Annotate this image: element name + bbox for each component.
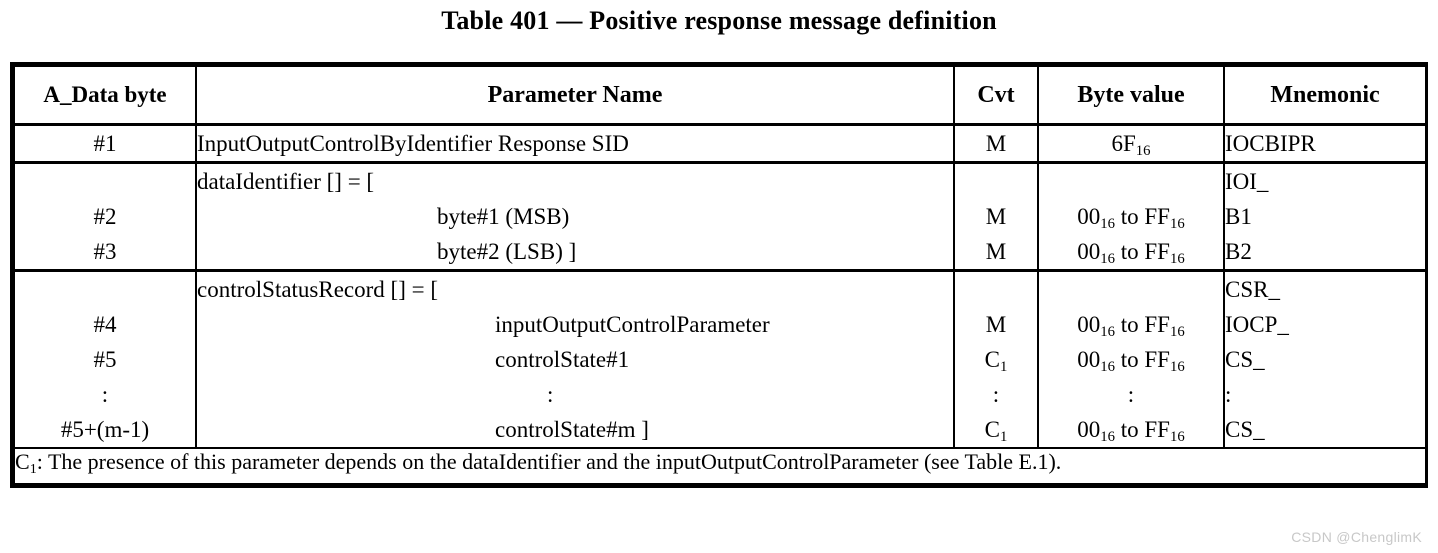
mnemonic-line: IOCP_ bbox=[1225, 307, 1425, 342]
range-start: 00 bbox=[1077, 417, 1100, 442]
cell-byte-value: 6F16 bbox=[1038, 125, 1224, 163]
table-header-row: A_Data byte Parameter Name Cvt Byte valu… bbox=[14, 66, 1426, 125]
watermark: CSDN @ChenglimK bbox=[1291, 529, 1422, 545]
cvt-subscript: 1 bbox=[1000, 429, 1007, 445]
range-start-subscript: 16 bbox=[1100, 251, 1115, 267]
byte-line: . bbox=[15, 164, 195, 199]
column-header-parameter-name: Parameter Name bbox=[196, 66, 954, 125]
byte-line: : bbox=[15, 377, 195, 412]
range-start-subscript: 16 bbox=[1100, 359, 1115, 375]
byte-value-line: 0016 to FF16 bbox=[1039, 412, 1223, 447]
byte-line: #5+(m-1) bbox=[15, 412, 195, 447]
range-start: 00 bbox=[1077, 239, 1100, 264]
cvt-line: M bbox=[955, 234, 1037, 269]
range-start: 00 bbox=[1077, 312, 1100, 337]
cell-parameter-name: dataIdentifier [] = [ byte#1 (MSB) byte#… bbox=[196, 163, 954, 271]
param-line: inputOutputControlParameter bbox=[197, 307, 953, 342]
byte-line: #4 bbox=[15, 307, 195, 342]
param-line: controlState#1 bbox=[197, 342, 953, 377]
cvt-line: M bbox=[955, 199, 1037, 234]
mnemonic-line: CSR_ bbox=[1225, 272, 1425, 307]
range-separator: to FF bbox=[1115, 417, 1170, 442]
range-end-subscript: 16 bbox=[1170, 216, 1185, 232]
param-line: byte#2 (LSB) ] bbox=[197, 234, 953, 269]
cell-mnemonic: IOI_ B1 B2 bbox=[1224, 163, 1426, 271]
param-line: : bbox=[197, 377, 953, 412]
definition-table-container: A_Data byte Parameter Name Cvt Byte valu… bbox=[10, 62, 1428, 488]
range-separator: to FF bbox=[1115, 204, 1170, 229]
byte-value-line: . bbox=[1039, 164, 1223, 199]
cell-adata-byte: . #4 #5 : #5+(m-1) bbox=[14, 271, 196, 449]
cvt-line: C1 bbox=[955, 412, 1037, 447]
byte-value-line: : bbox=[1039, 377, 1223, 412]
column-header-mnemonic: Mnemonic bbox=[1224, 66, 1426, 125]
range-end-subscript: 16 bbox=[1170, 251, 1185, 267]
cell-mnemonic: CSR_ IOCP_ CS_ : CS_ bbox=[1224, 271, 1426, 449]
byte-value-line: 0016 to FF16 bbox=[1039, 342, 1223, 377]
footnote-label-base: C bbox=[15, 449, 30, 474]
byte-value-line: 6F16 bbox=[1039, 126, 1223, 161]
column-header-byte-value: Byte value bbox=[1038, 66, 1224, 125]
byte-value-line: 0016 to FF16 bbox=[1039, 199, 1223, 234]
cvt-line: . bbox=[955, 272, 1037, 307]
range-separator: to FF bbox=[1115, 239, 1170, 264]
mnemonic-line: B1 bbox=[1225, 199, 1425, 234]
cell-parameter-name: InputOutputControlByIdentifier Response … bbox=[196, 125, 954, 163]
range-end-subscript: 16 bbox=[1170, 429, 1185, 445]
cvt-line: . bbox=[955, 164, 1037, 199]
table-footnote-row: C1: The presence of this parameter depen… bbox=[14, 448, 1426, 484]
cell-adata-byte: . #2 #3 bbox=[14, 163, 196, 271]
range-end-subscript: 16 bbox=[1170, 359, 1185, 375]
cvt-line: M bbox=[955, 126, 1037, 161]
table-row: . #2 #3 dataIdentifier [] = [ byte#1 (MS… bbox=[14, 163, 1426, 271]
mnemonic-line: : bbox=[1225, 377, 1425, 412]
cvt-base: C bbox=[985, 417, 1000, 442]
table-row: #1 InputOutputControlByIdentifier Respon… bbox=[14, 125, 1426, 163]
mnemonic-line: CS_ bbox=[1225, 412, 1425, 447]
column-header-cvt: Cvt bbox=[954, 66, 1038, 125]
byte-value-line: . bbox=[1039, 272, 1223, 307]
param-line: InputOutputControlByIdentifier Response … bbox=[197, 126, 953, 161]
column-header-adata-byte: A_Data byte bbox=[14, 66, 196, 125]
range-separator: to FF bbox=[1115, 347, 1170, 372]
byte-line: #5 bbox=[15, 342, 195, 377]
range-start-subscript: 16 bbox=[1100, 216, 1115, 232]
cell-adata-byte: #1 bbox=[14, 125, 196, 163]
cell-byte-value: . 0016 to FF16 0016 to FF16 bbox=[1038, 163, 1224, 271]
byte-line: #1 bbox=[15, 126, 195, 161]
cvt-base: C bbox=[985, 347, 1000, 372]
footnote-label-subscript: 1 bbox=[30, 461, 37, 477]
mnemonic-line: CS_ bbox=[1225, 342, 1425, 377]
cell-cvt: M bbox=[954, 125, 1038, 163]
mnemonic-line: B2 bbox=[1225, 234, 1425, 269]
byte-value-line: 0016 to FF16 bbox=[1039, 307, 1223, 342]
mnemonic-line: IOI_ bbox=[1225, 164, 1425, 199]
param-line: dataIdentifier [] = [ bbox=[197, 164, 953, 199]
cvt-line: M bbox=[955, 307, 1037, 342]
byte-value-base: 6F bbox=[1111, 131, 1135, 156]
cell-byte-value: . 0016 to FF16 0016 to FF16 : 0016 to FF… bbox=[1038, 271, 1224, 449]
range-start: 00 bbox=[1077, 347, 1100, 372]
cell-cvt: . M C1 : C1 bbox=[954, 271, 1038, 449]
range-start-subscript: 16 bbox=[1100, 429, 1115, 445]
cell-mnemonic: IOCBIPR bbox=[1224, 125, 1426, 163]
table-row: . #4 #5 : #5+(m-1) controlStatusRecord [… bbox=[14, 271, 1426, 449]
param-line: controlState#m ] bbox=[197, 412, 953, 447]
param-line: controlStatusRecord [] = [ bbox=[197, 272, 953, 307]
byte-line: #3 bbox=[15, 234, 195, 269]
byte-line: #2 bbox=[15, 199, 195, 234]
page-title: Table 401 — Positive response message de… bbox=[0, 0, 1438, 34]
cell-cvt: . M M bbox=[954, 163, 1038, 271]
mnemonic-line: IOCBIPR bbox=[1225, 126, 1425, 161]
footnote-text: : The presence of this parameter depends… bbox=[37, 449, 1062, 474]
range-start-subscript: 16 bbox=[1100, 324, 1115, 340]
byte-value-subscript: 16 bbox=[1136, 143, 1151, 159]
param-line: byte#1 (MSB) bbox=[197, 199, 953, 234]
footnote-c1: C1: The presence of this parameter depen… bbox=[14, 448, 1426, 484]
positive-response-message-table: A_Data byte Parameter Name Cvt Byte valu… bbox=[13, 65, 1427, 485]
cvt-line: C1 bbox=[955, 342, 1037, 377]
cvt-line: : bbox=[955, 377, 1037, 412]
range-separator: to FF bbox=[1115, 312, 1170, 337]
cvt-subscript: 1 bbox=[1000, 359, 1007, 375]
byte-line: . bbox=[15, 272, 195, 307]
range-start: 00 bbox=[1077, 204, 1100, 229]
byte-value-line: 0016 to FF16 bbox=[1039, 234, 1223, 269]
cell-parameter-name: controlStatusRecord [] = [ inputOutputCo… bbox=[196, 271, 954, 449]
range-end-subscript: 16 bbox=[1170, 324, 1185, 340]
